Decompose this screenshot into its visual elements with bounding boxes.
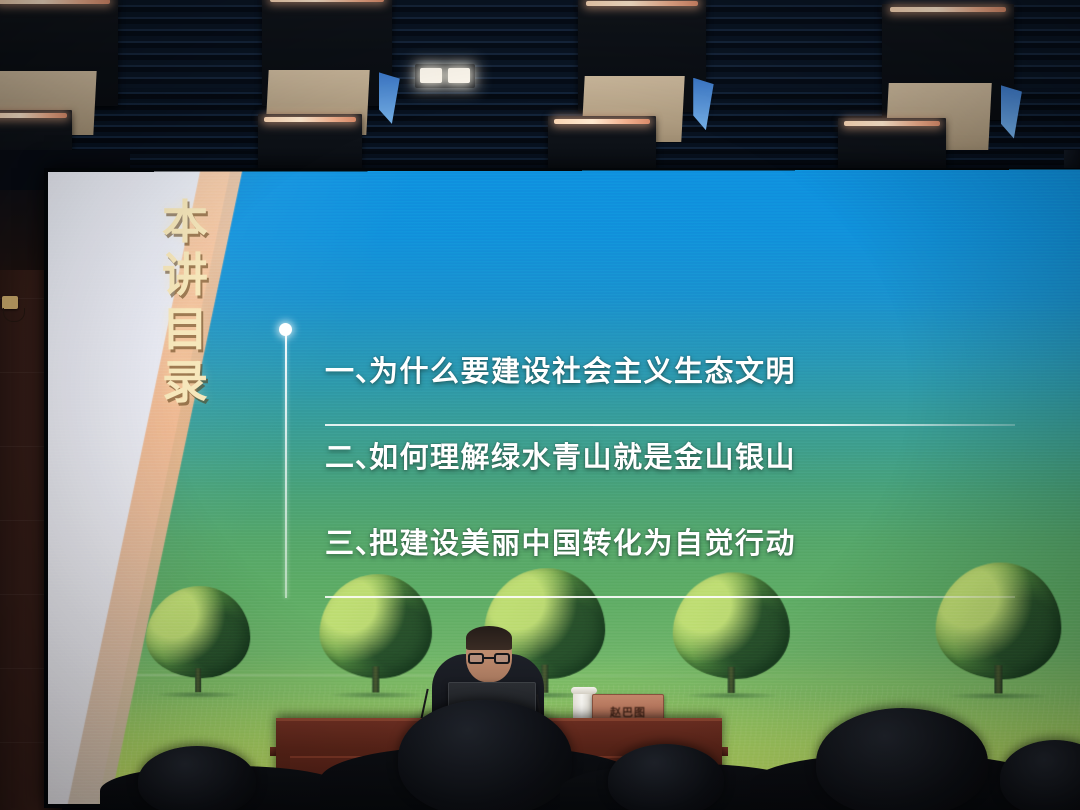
glasses-bridge	[484, 657, 494, 659]
audience-head	[398, 700, 572, 810]
glasses-lens-right	[494, 653, 510, 664]
toc-item-text: 把建设美丽中国转化为自觉行动	[369, 520, 796, 562]
ceiling-light-box	[882, 4, 1014, 120]
ceiling-light-box	[262, 0, 392, 106]
vertical-title-char: 本	[150, 196, 222, 249]
audience-head	[816, 708, 988, 810]
tree-shadow	[330, 691, 422, 698]
glasses-lens-left	[468, 653, 484, 664]
water-cup-lid	[571, 687, 597, 694]
light-strip	[586, 1, 699, 6]
slide-table-of-contents: 一、 为什么要建设社会主义生态文明 二、 如何理解绿水青山就是金山银山 三、 把…	[325, 340, 1025, 598]
tree	[144, 580, 252, 692]
tree-trunk	[372, 666, 379, 692]
spotlight-lamp	[420, 68, 442, 83]
speaker-hair	[466, 626, 512, 650]
vertical-title-char: 录	[150, 356, 222, 409]
toc-item-text: 为什么要建设社会主义生态文明	[369, 348, 796, 390]
slide-vertical-title: 本 讲 目 录	[150, 196, 222, 409]
spotlight-lamp	[448, 68, 470, 83]
toc-item: 二、 如何理解绿水青山就是金山银山	[325, 426, 1025, 512]
toc-item: 一、 为什么要建设社会主义生态文明	[325, 340, 1025, 426]
light-strip	[890, 7, 1006, 12]
ceiling-light-box	[0, 0, 118, 106]
audience-head	[608, 744, 724, 810]
photo-scene: 本 讲 目 录 一、 为什么要建设社会主义生态文明 二、 如何理解绿水青山就是金…	[0, 0, 1080, 810]
light-strip	[270, 0, 384, 2]
vertical-title-char: 讲	[150, 249, 222, 302]
tree-shadow	[948, 692, 1049, 699]
tree-trunk	[994, 665, 1002, 693]
ceiling-spotlight	[415, 64, 475, 88]
toc-item: 三、 把建设美丽中国转化为自觉行动	[325, 512, 1025, 598]
slide-timeline-line	[285, 330, 287, 598]
tree-crown	[146, 586, 250, 678]
slide-timeline-dot	[279, 323, 292, 336]
light-strip	[844, 121, 939, 126]
audience-head	[138, 746, 256, 810]
tree-trunk	[728, 667, 735, 693]
speaker-glasses	[468, 653, 510, 664]
tree-shadow	[684, 692, 779, 699]
light-strip	[554, 119, 649, 124]
light-strip	[264, 117, 356, 122]
ceiling-light-box	[578, 0, 706, 112]
light-strip	[0, 113, 67, 118]
vertical-title-char: 目	[150, 303, 222, 356]
toc-item-text: 如何理解绿水青山就是金山银山	[369, 434, 796, 476]
tree-shadow	[155, 691, 241, 698]
light-strip	[0, 0, 110, 4]
tree-trunk	[195, 668, 201, 692]
